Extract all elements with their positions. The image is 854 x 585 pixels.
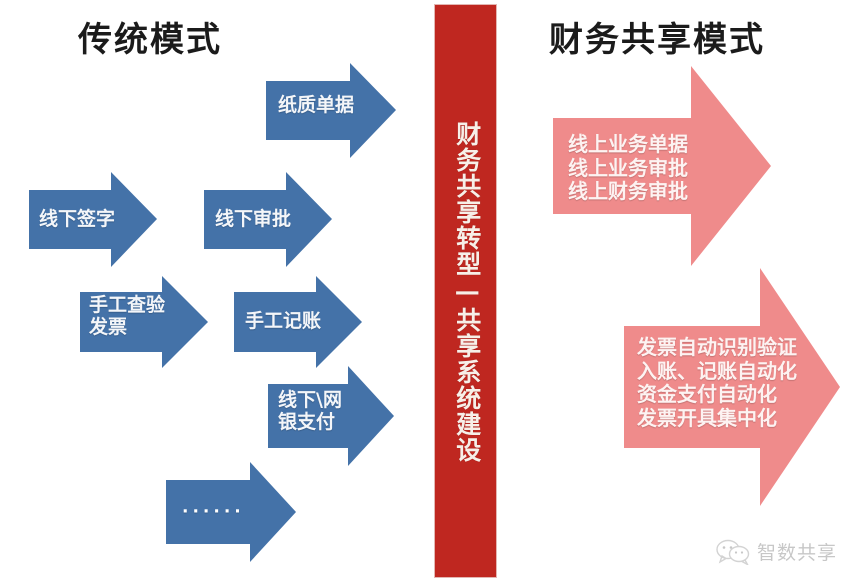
arrow-offline-approval: 线下审批 [204, 172, 332, 267]
arrow-ellipsis: ······ [166, 462, 296, 562]
offline-online-bank-payment-arrow-shape [268, 366, 394, 466]
online-processes-arrow-shape [553, 66, 771, 266]
arrow-manual-bookkeeping: 手工记账 [234, 276, 362, 368]
paper-documents-arrow-shape [266, 63, 396, 158]
right-section-title: 财务共享模式 [549, 12, 765, 61]
offline-approval-arrow-shape [204, 172, 332, 267]
left-section-title: 传统模式 [78, 12, 222, 61]
manual-invoice-check-arrow-shape [80, 276, 208, 368]
arrow-offline-online-bank-payment: 线下\网 银支付 [268, 366, 394, 466]
arrow-online-processes: 线上业务单据 线上业务审批 线上财务审批 [553, 66, 771, 266]
center-red-banner: 财务共享转型—共享系统建设 [434, 4, 497, 578]
arrow-paper-documents: 纸质单据 [266, 63, 396, 158]
arrow-automation-processes: 发票自动识别验证 入账、记账自动化 资金支付自动化 发票开具集中化 [624, 268, 840, 506]
arrow-manual-invoice-check: 手工查验 发票 [80, 276, 208, 368]
automation-processes-arrow-shape [624, 268, 840, 506]
center-red-banner-text: 财务共享转型—共享系统建设 [435, 5, 498, 579]
diagram-canvas: 传统模式 财务共享模式 纸质单据 线下签字 线下审批 手工查验 发票 手工记 [0, 0, 854, 585]
wechat-icon [716, 539, 750, 565]
arrow-offline-signature: 线下签字 [29, 172, 157, 267]
manual-bookkeeping-arrow-shape [234, 276, 362, 368]
watermark-text: 智数共享 [757, 538, 837, 565]
watermark: 智数共享 [716, 538, 837, 565]
ellipsis-arrow-shape [166, 462, 296, 562]
offline-signature-arrow-shape [29, 172, 157, 267]
